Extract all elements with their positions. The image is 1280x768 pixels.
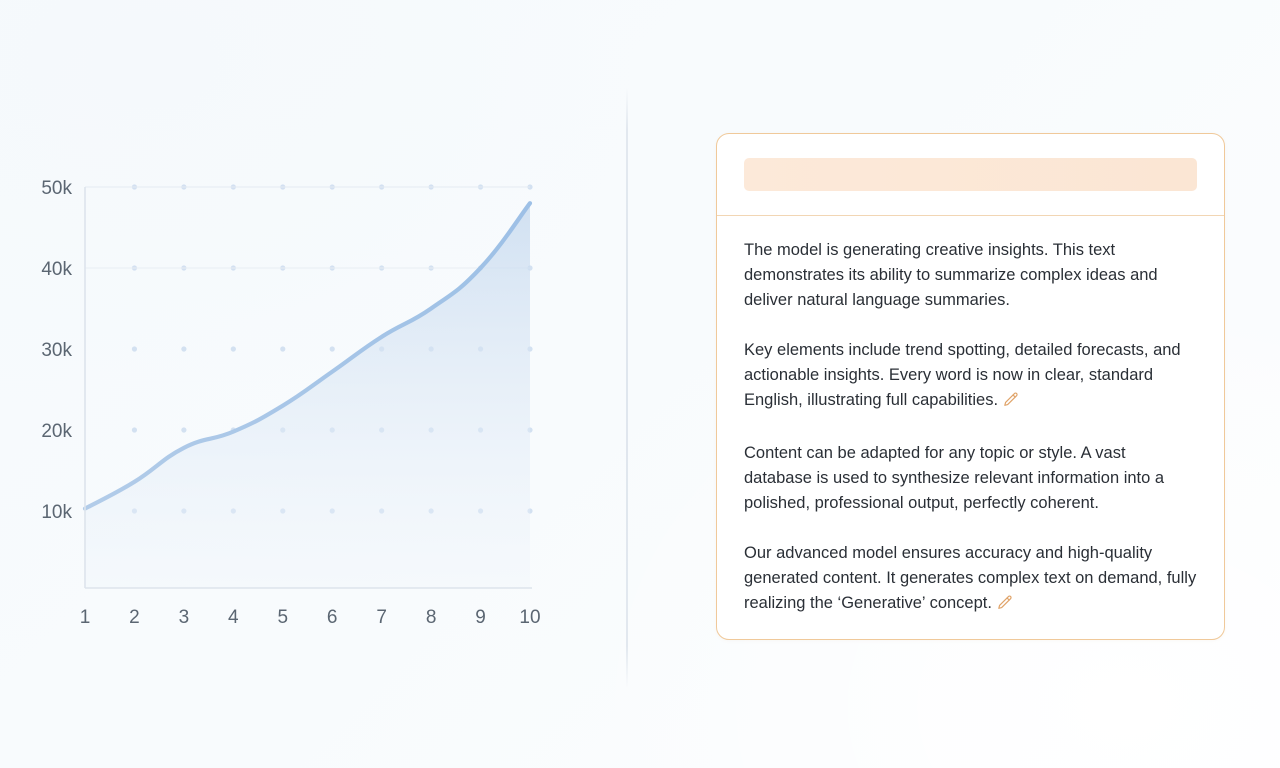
pencil-icon[interactable] [1002,391,1019,416]
chart-area-fill [85,203,530,588]
x-axis-tick-label: 8 [426,607,437,628]
y-axis-tick-label: 30k [41,340,72,361]
chart-x-axis-labels: 12345678910 [80,607,541,628]
paragraph-text: Our advanced model ensures accuracy and … [744,544,1196,612]
header-placeholder-bar[interactable] [744,158,1197,191]
y-axis-tick-label: 40k [41,259,72,280]
vertical-divider [626,88,628,688]
grid-dot [132,346,137,351]
x-axis-tick-label: 9 [475,607,486,628]
grid-dot [231,346,236,351]
x-axis-tick-label: 5 [277,607,288,628]
y-axis-tick-label: 50k [41,178,72,199]
paragraph-text: The model is generating creative insight… [744,241,1158,309]
trend-area-chart: 10k20k30k40k50k 12345678910 [0,140,600,650]
x-axis-tick-label: 6 [327,607,338,628]
paragraph-text: Key elements include trend spotting, det… [744,341,1181,409]
generated-paragraph: The model is generating creative insight… [744,238,1197,313]
y-axis-tick-label: 20k [41,421,72,442]
generated-paragraph: Our advanced model ensures accuracy and … [744,541,1197,619]
x-axis-tick-label: 2 [129,607,140,628]
generated-text-card: The model is generating creative insight… [716,133,1225,640]
x-axis-tick-label: 1 [80,607,91,628]
card-header [717,134,1224,216]
generated-paragraph: Content can be adapted for any topic or … [744,441,1197,516]
grid-dot [280,346,285,351]
chart-y-axis-labels: 10k20k30k40k50k [41,178,72,523]
x-axis-tick-label: 7 [376,607,387,628]
paragraph-text: Content can be adapted for any topic or … [744,444,1164,512]
chart-gridlines [85,187,530,268]
x-axis-tick-label: 4 [228,607,239,628]
pencil-icon[interactable] [996,594,1013,619]
chart-panel: 10k20k30k40k50k 12345678910 [0,140,600,650]
x-axis-tick-label: 3 [179,607,190,628]
grid-dot [181,346,186,351]
y-axis-tick-label: 10k [41,502,72,523]
grid-dot [181,427,186,432]
x-axis-tick-label: 10 [519,607,540,628]
generated-paragraph: Key elements include trend spotting, det… [744,338,1197,416]
card-body: The model is generating creative insight… [717,216,1224,639]
grid-dot [330,346,335,351]
grid-dot [132,427,137,432]
